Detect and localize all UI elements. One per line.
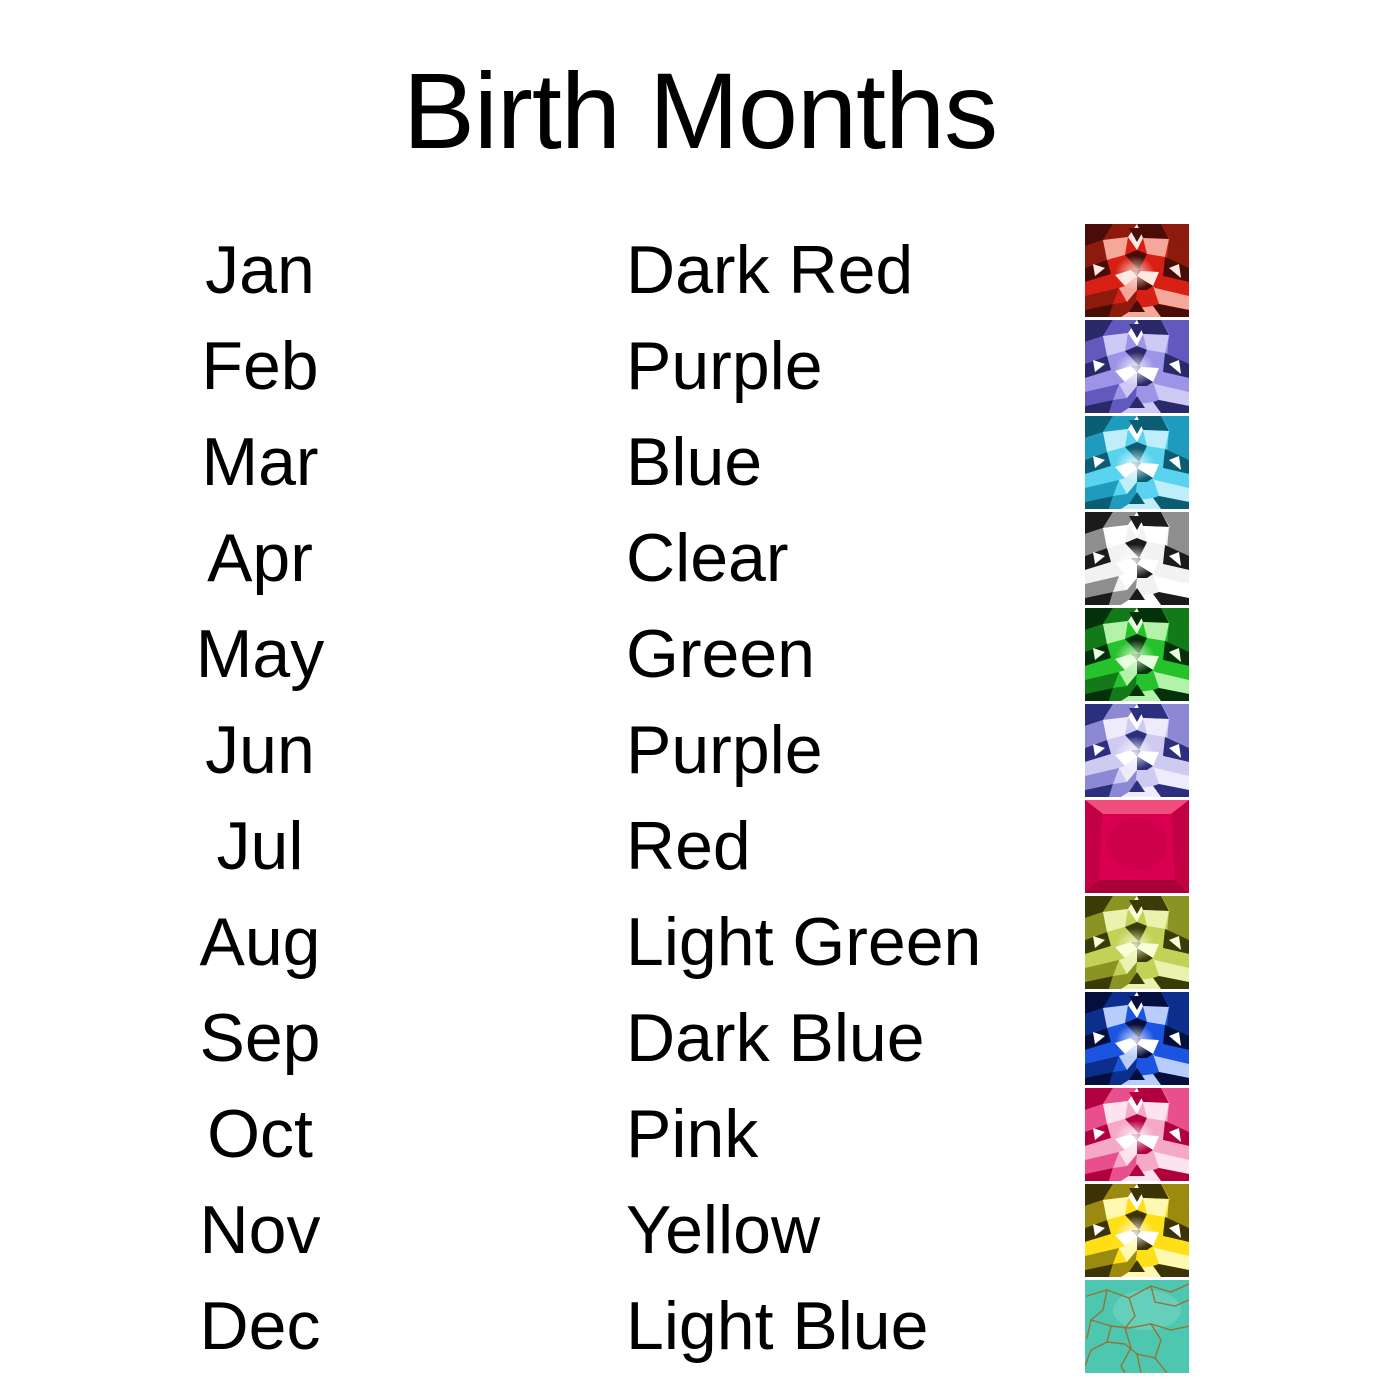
table-row: AprClear <box>0 510 1400 606</box>
turquoise-gem <box>1085 1280 1189 1373</box>
month-label: Nov <box>140 1182 380 1278</box>
color-name-label: Green <box>626 606 815 702</box>
garnet-gem <box>1085 224 1189 317</box>
color-name-label: Red <box>626 798 751 894</box>
table-row: NovYellow <box>0 1182 1400 1278</box>
table-row: JanDark Red <box>0 222 1400 318</box>
month-label: Jun <box>140 702 380 798</box>
alexandrite-gem <box>1085 704 1189 797</box>
sapphire-gem <box>1085 992 1189 1085</box>
table-row: DecLight Blue <box>0 1278 1400 1374</box>
table-row: OctPink <box>0 1086 1400 1182</box>
color-name-label: Purple <box>626 318 823 414</box>
month-label: Mar <box>140 414 380 510</box>
ruby-gem <box>1085 800 1189 893</box>
month-label: Dec <box>140 1278 380 1374</box>
color-name-label: Dark Blue <box>626 990 925 1086</box>
table-row: MayGreen <box>0 606 1400 702</box>
color-name-label: Dark Red <box>626 222 913 318</box>
month-label: Sep <box>140 990 380 1086</box>
month-label: Jan <box>140 222 380 318</box>
month-label: Apr <box>140 510 380 606</box>
peridot-gem <box>1085 896 1189 989</box>
color-name-label: Clear <box>626 510 789 606</box>
month-label: Jul <box>140 798 380 894</box>
color-name-label: Yellow <box>626 1182 820 1278</box>
page-title: Birth Months <box>0 52 1400 171</box>
month-label: Feb <box>140 318 380 414</box>
birth-months-page: Birth Months JanDark RedFebPurpleMarBlue… <box>0 0 1400 1400</box>
amethyst-gem <box>1085 320 1189 413</box>
table-row: SepDark Blue <box>0 990 1400 1086</box>
color-name-label: Blue <box>626 414 762 510</box>
aquamarine-gem <box>1085 416 1189 509</box>
table-row: MarBlue <box>0 414 1400 510</box>
month-label: Oct <box>140 1086 380 1182</box>
tourmaline-gem <box>1085 1088 1189 1181</box>
month-label: May <box>140 606 380 702</box>
emerald-gem <box>1085 608 1189 701</box>
color-name-label: Light Blue <box>626 1278 928 1374</box>
birth-months-table: JanDark RedFebPurpleMarBlueAprClearMayGr… <box>0 222 1400 1374</box>
table-row: JulRed <box>0 798 1400 894</box>
table-row: FebPurple <box>0 318 1400 414</box>
citrine-gem <box>1085 1184 1189 1277</box>
month-label: Aug <box>140 894 380 990</box>
table-row: AugLight Green <box>0 894 1400 990</box>
color-name-label: Purple <box>626 702 823 798</box>
table-row: JunPurple <box>0 702 1400 798</box>
color-name-label: Pink <box>626 1086 758 1182</box>
color-name-label: Light Green <box>626 894 981 990</box>
diamond-gem <box>1085 512 1189 605</box>
